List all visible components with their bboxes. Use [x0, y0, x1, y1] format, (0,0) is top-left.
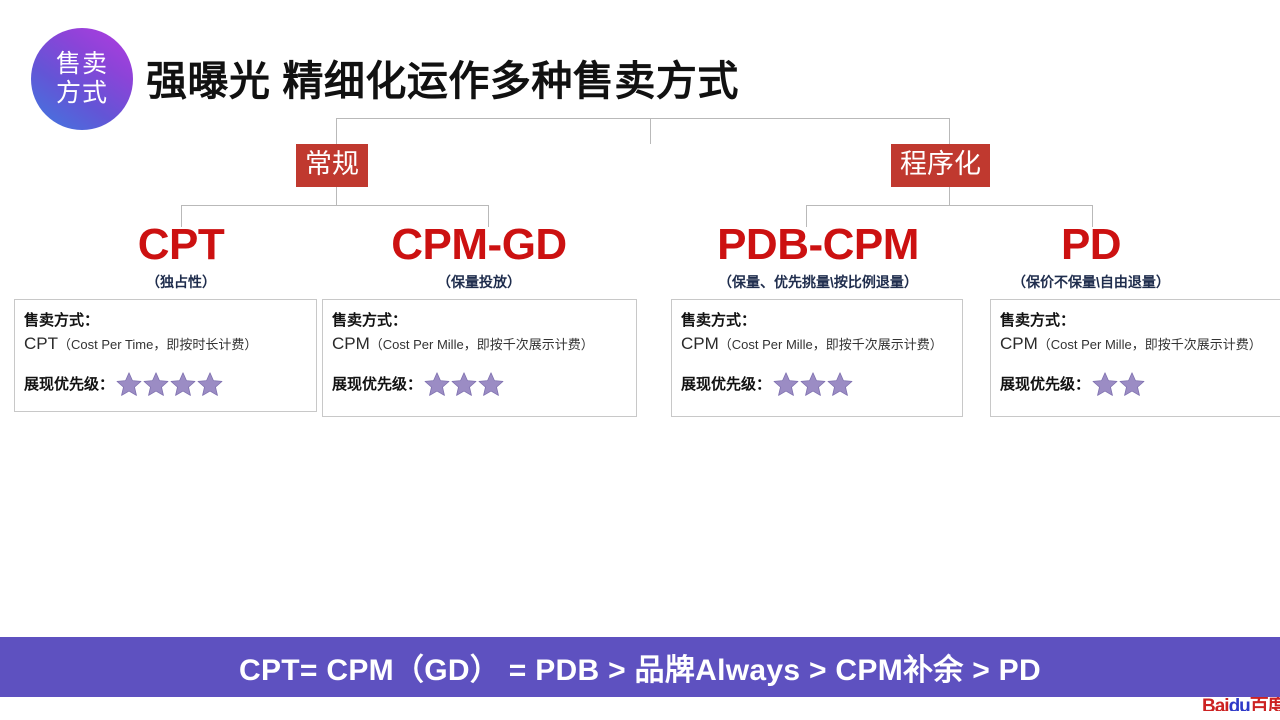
info-method-label-pd: 售卖方式：	[1000, 310, 1273, 331]
info-method-value-cpmgd: CPM（Cost Per Mille，即按千次展示计费）	[332, 332, 628, 357]
summary-banner: CPT= CPM（GD） = PDB > 品牌Always > CPM补余 > …	[0, 637, 1280, 697]
star-icon	[197, 371, 223, 397]
star-icon	[478, 371, 504, 397]
column-code-cpmgd: CPM-GD	[364, 221, 594, 269]
column-header-cpt: CPT （独占性）	[66, 221, 296, 292]
info-method-code-pdbcpm: CPM	[681, 334, 719, 353]
info-method-paren-pdbcpm: （Cost Per Mille，即按千次展示计费）	[719, 337, 943, 352]
category-badge-programmatic[interactable]: 程序化	[891, 144, 990, 187]
column-sub-pd: （保价不保量\自由退量）	[975, 272, 1207, 292]
column-sub-pdbcpm: （保量、优先挑量\按比例退量）	[688, 272, 948, 292]
tree-root-horizontal	[336, 118, 950, 119]
star-icon	[827, 371, 853, 397]
star-icon	[773, 371, 799, 397]
brand-part-2: du	[1229, 697, 1250, 711]
info-method-label-cpmgd: 售卖方式：	[332, 310, 628, 331]
info-method-value-cpt: CPT（Cost Per Time，即按时长计费）	[24, 332, 308, 357]
badge-line-2: 方式	[56, 79, 108, 108]
info-priority-row-pd: 展现优先级：	[1000, 371, 1273, 397]
priority-stars-pdbcpm	[773, 371, 854, 397]
info-method-value-pdbcpm: CPM（Cost Per Mille，即按千次展示计费）	[681, 332, 954, 357]
tree-branch-left-stem	[336, 191, 337, 205]
column-sub-cpt: （独占性）	[66, 272, 296, 292]
star-icon	[170, 371, 196, 397]
info-priority-label-cpt: 展现优先级：	[24, 374, 114, 395]
info-method-value-pd: CPM（Cost Per Mille，即按千次展示计费）	[1000, 332, 1273, 357]
sales-mode-badge: 售卖 方式	[31, 28, 133, 130]
column-header-pd: PD （保价不保量\自由退量）	[975, 221, 1207, 292]
brand-part-1: Bai	[1202, 697, 1229, 711]
info-priority-label-pd: 展现优先级：	[1000, 374, 1090, 395]
star-icon	[116, 371, 142, 397]
info-box-cpt: 售卖方式： CPT（Cost Per Time，即按时长计费） 展现优先级：	[14, 299, 317, 412]
star-icon	[143, 371, 169, 397]
tree-branch-bar-right	[806, 205, 1092, 206]
tree-notch-center	[650, 118, 651, 144]
star-icon	[1119, 371, 1145, 397]
info-priority-row-cpmgd: 展现优先级：	[332, 371, 628, 397]
star-icon	[1092, 371, 1118, 397]
star-icon	[424, 371, 450, 397]
brand-part-3: 百度	[1250, 697, 1280, 711]
tree-branch-right-stem	[949, 191, 950, 205]
column-code-pd: PD	[975, 221, 1207, 269]
column-code-pdbcpm: PDB-CPM	[688, 221, 948, 269]
star-icon	[800, 371, 826, 397]
column-sub-cpmgd: （保量投放）	[364, 272, 594, 292]
info-priority-label-pdbcpm: 展现优先级：	[681, 374, 771, 395]
info-method-paren-cpt: （Cost Per Time，即按时长计费）	[58, 337, 257, 352]
info-priority-row-cpt: 展现优先级：	[24, 371, 308, 397]
column-header-cpmgd: CPM-GD （保量投放）	[364, 221, 594, 292]
info-priority-row-pdbcpm: 展现优先级：	[681, 371, 954, 397]
info-method-paren-cpmgd: （Cost Per Mille，即按千次展示计费）	[370, 337, 594, 352]
summary-banner-text: CPT= CPM（GD） = PDB > 品牌Always > CPM补余 > …	[239, 645, 1041, 689]
info-priority-label-cpmgd: 展现优先级：	[332, 374, 422, 395]
info-method-label-pdbcpm: 售卖方式：	[681, 310, 954, 331]
star-icon	[451, 371, 477, 397]
info-method-code-pd: CPM	[1000, 334, 1038, 353]
info-method-paren-pd: （Cost Per Mille，即按千次展示计费）	[1038, 337, 1262, 352]
priority-stars-cpt	[116, 371, 224, 397]
info-box-pdbcpm: 售卖方式： CPM（Cost Per Mille，即按千次展示计费） 展现优先级…	[671, 299, 963, 417]
info-method-code-cpmgd: CPM	[332, 334, 370, 353]
info-method-code-cpt: CPT	[24, 334, 58, 353]
column-header-pdbcpm: PDB-CPM （保量、优先挑量\按比例退量）	[688, 221, 948, 292]
priority-stars-cpmgd	[424, 371, 505, 397]
category-badge-regular[interactable]: 常规	[296, 144, 368, 187]
info-method-label-cpt: 售卖方式：	[24, 310, 308, 331]
badge-line-1: 售卖	[56, 50, 108, 79]
priority-stars-pd	[1092, 371, 1146, 397]
tree-branch-bar-left	[181, 205, 488, 206]
brand-logo-text: Baidu百度	[1202, 697, 1280, 711]
page-title: 强曝光 精细化运作多种售卖方式	[146, 47, 739, 107]
column-code-cpt: CPT	[66, 221, 296, 269]
info-box-cpmgd: 售卖方式： CPM（Cost Per Mille，即按千次展示计费） 展现优先级…	[322, 299, 637, 417]
brand-logo: Baidu百度	[1202, 697, 1280, 711]
info-box-pd: 售卖方式： CPM（Cost Per Mille，即按千次展示计费） 展现优先级…	[990, 299, 1280, 417]
